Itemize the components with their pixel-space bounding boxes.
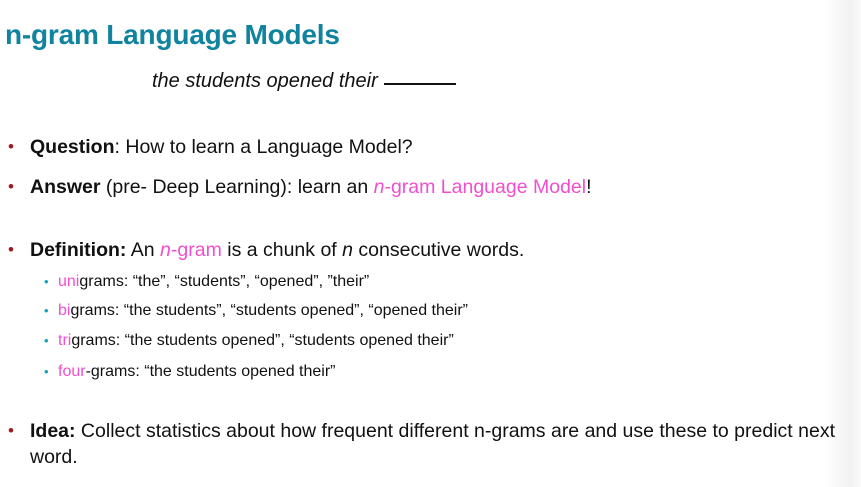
bullet-definition-italic-n: n [342, 239, 353, 261]
bullet-definition-text: Definition: An n-gram is a chunk of n co… [30, 237, 524, 263]
subbullet-unigrams-prefix: uni [58, 273, 79, 290]
example-sentence-text: the students opened their [152, 70, 378, 92]
subbullet-bigrams-text: bigrams: “the students”, “students opene… [58, 300, 468, 322]
bullet-question-rest: How to learn a Language Model? [125, 136, 412, 158]
bullet-definition-tail: consecutive words. [353, 239, 524, 261]
subbullet-bigrams-prefix: bi [58, 302, 70, 319]
bullet-answer-tail: ! [586, 176, 591, 198]
bullet-marker-level2-icon: • [44, 330, 58, 352]
subbullet-trigrams-text: trigrams: “the students opened”, “studen… [58, 330, 454, 352]
bullet-idea-rest: Collect statistics about how frequent di… [30, 420, 835, 468]
bullet-idea: • Idea: Collect statistics about how fre… [8, 418, 860, 470]
subbullet-unigrams-text: unigrams: “the”, “students”, “opened”, ”… [58, 271, 369, 293]
subbullet-trigrams-prefix: tri [58, 332, 71, 349]
blank-underline [384, 83, 456, 85]
bullet-definition-accent-rest: -gram [171, 239, 222, 261]
bullet-idea-text: Idea: Collect statistics about how frequ… [30, 418, 860, 470]
subbullet-bigrams-rest: grams: “the students”, “students opened”… [70, 302, 468, 319]
bullet-marker-level1-icon: • [8, 134, 30, 160]
page-title: n-gram Language Models [5, 19, 340, 51]
bullet-question-lead-suffix: : [115, 136, 126, 158]
bullet-question: • Question: How to learn a Language Mode… [8, 134, 413, 160]
bullet-answer-lead: Answer [30, 176, 100, 198]
bullet-answer-accent-rest: -gram Language Model [384, 176, 586, 198]
bullet-definition-accent-italic: n [160, 239, 171, 261]
subbullet-unigrams: • unigrams: “the”, “students”, “opened”,… [44, 271, 369, 293]
bullet-definition: • Definition: An n-gram is a chunk of n … [8, 237, 524, 263]
bullet-answer-text: Answer (pre- Deep Learning): learn an n-… [30, 174, 592, 200]
bullet-answer: • Answer (pre- Deep Learning): learn an … [8, 174, 592, 200]
bullet-question-text: Question: How to learn a Language Model? [30, 134, 413, 160]
bullet-question-lead: Question [30, 136, 115, 158]
subbullet-fourgrams-text: four-grams: “the students opened their” [58, 361, 335, 383]
subbullet-fourgrams-prefix: four [58, 363, 86, 380]
bullet-answer-mid: (pre- Deep Learning): learn an [100, 176, 373, 198]
bullet-definition-mid2: is a chunk of [222, 239, 342, 261]
subbullet-unigrams-rest: grams: “the”, “students”, “opened”, ”the… [79, 273, 369, 290]
bullet-marker-level1-icon: • [8, 418, 30, 444]
subbullet-trigrams-rest: grams: “the students opened”, “students … [71, 332, 453, 349]
bullet-definition-lead: Definition: [30, 239, 126, 261]
bullet-definition-mid: An [126, 239, 160, 261]
bullet-idea-lead: Idea: [30, 420, 76, 442]
subbullet-trigrams: • trigrams: “the students opened”, “stud… [44, 330, 454, 352]
bullet-marker-level1-icon: • [8, 237, 30, 263]
subbullet-fourgrams-rest: -grams: “the students opened their” [86, 363, 336, 380]
bullet-answer-accent-italic: n [374, 176, 385, 198]
example-sentence: the students opened their [152, 70, 456, 93]
subbullet-bigrams: • bigrams: “the students”, “students ope… [44, 300, 468, 322]
right-edge-shadow [823, 0, 861, 487]
bullet-marker-level2-icon: • [44, 271, 58, 293]
slide-canvas: n-gram Language Models the students open… [0, 0, 861, 487]
bullet-marker-level1-icon: • [8, 174, 30, 200]
bullet-marker-level2-icon: • [44, 361, 58, 383]
subbullet-fourgrams: • four-grams: “the students opened their… [44, 361, 335, 383]
bullet-marker-level2-icon: • [44, 300, 58, 322]
